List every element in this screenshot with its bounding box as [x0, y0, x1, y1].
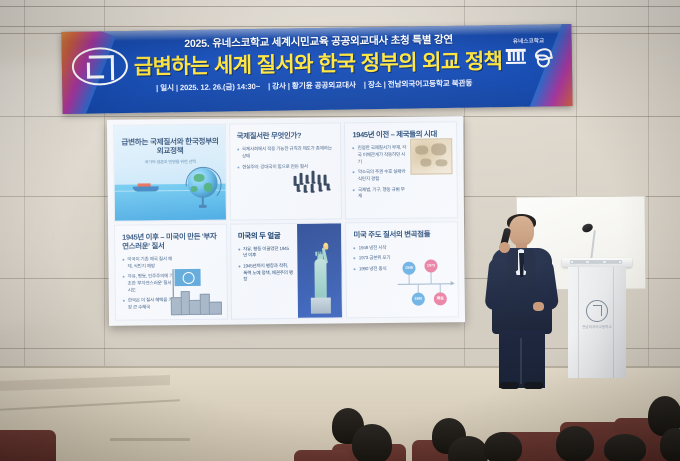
unesco-temple-icon [506, 48, 526, 65]
lectern-podium: 전남외국어고등학교 [566, 258, 628, 378]
audience-seat [0, 430, 56, 461]
slide-panel-4: 1945년 이후 – 미국이 만든 '부자연스러운' 질서 미국이 기존 제국 … [114, 223, 228, 321]
speaker-head [509, 216, 534, 246]
speaker-hand-right [533, 302, 544, 311]
slide-panel-1-subtitle: 국가의 생존과 번영을 위한 선택 [121, 159, 219, 166]
timeline-node: 現在 [434, 292, 447, 305]
bullet: 1973 금본위 포기 [354, 255, 401, 262]
speaker-leg-split [520, 338, 522, 384]
banner-main-title: 급변하는 세계 질서와 한국 정부의 외교 정책 [134, 45, 492, 81]
bullet: 진정한 국제질서가 부재, 각국 이해관계가 작동하던 시기 [353, 145, 408, 166]
lecture-hall-photo: 2025. 유네스코학교 세계시민교육 공공외교대사 초청 특별 강연 급변하는… [0, 0, 680, 461]
audience-seat [294, 450, 350, 461]
bullet: 미국이 기존 제국 질서 해체, 식민지 해방 [122, 256, 173, 270]
audience-head [660, 428, 680, 461]
bullet: 1945년까지 팽창과 착취, 폭력 노예 정책, 패권주의 팽창 [238, 263, 293, 284]
bullet: 자유, 평등 이끌었던 1945년 이후 [238, 246, 293, 260]
audience-head [604, 434, 646, 461]
ceiling-seam [0, 6, 680, 7]
slide-panel-1: 급변하는 국제질서와 한국정부의 외교정책 국가의 생존과 번영을 위한 선택 [113, 124, 227, 222]
ship-icon [132, 183, 158, 191]
timeline-node: 1948 [402, 262, 415, 275]
globe-icon [185, 168, 219, 208]
banner-info-speaker: | 강사 | 황기윤 공공외교대사 [268, 80, 356, 90]
podium-seam [578, 267, 579, 378]
podium-caption: 전남외국어고등학교 [580, 324, 614, 329]
podium-control-strip [570, 260, 622, 264]
slide-panel-1-title: 급변하는 국제질서와 한국정부의 외교정책 [121, 137, 219, 157]
slide-panel-3: 1945년 이전 – 제국들의 시대 진정한 국제질서가 부재, 각국 이해관계… [344, 121, 458, 219]
speaker-hand-left [499, 242, 510, 253]
timeline-icon: 1948 1973 1990 現在 [397, 264, 453, 305]
bullet: 한국은 이 질서 혜택을 가장 큰 수혜국 [123, 297, 174, 311]
banner-info-date: | 일시 | 2025. 12. 26.(금) 14:30~ [156, 82, 260, 93]
slide-panel-6: 미국 주도 질서의 변곡점들 1948 냉전 시작 1973 금본위 포기 19… [345, 221, 459, 319]
slide-panel-5: 미국의 두 얼굴 자유, 평등 이끌었던 1945년 이후 1945년까지 팽창… [230, 222, 344, 320]
slide-panel-2-title: 국제질서란 무엇인가? [237, 130, 335, 140]
timeline-node: 1990 [412, 293, 425, 306]
slide-panel-6-title: 미국 주도 질서의 변곡점들 [353, 229, 451, 239]
school-emblem-icon [72, 47, 129, 86]
audience-head [484, 432, 522, 461]
slide-panel-grid: 급변하는 국제질서와 한국정부의 외교정책 국가의 생존과 번영을 위한 선택 … [113, 121, 459, 321]
audience-head [352, 424, 392, 461]
event-banner: 2025. 유네스코학교 세계시민교육 공공외교대사 초청 특별 강연 급변하는… [61, 24, 572, 114]
un-flag-ruins-icon [168, 267, 224, 316]
bullet: 1948 냉전 시작 [354, 245, 401, 252]
unesco-caption: 유네스코학교 [494, 36, 564, 45]
banner-info-venue: | 장소 | 전남외국어고등학교 북관동 [364, 79, 473, 90]
school-emblem-icon [586, 300, 608, 322]
podium-seam [613, 267, 614, 378]
slide-panel-4-bullets: 미국이 기존 제국 질서 해체, 식민지 해방 자유, 평등, 인주주의에 기초… [122, 256, 173, 311]
old-world-map-icon [410, 138, 452, 174]
speaker-trousers [499, 330, 545, 388]
bullet: 약소국의 주권 수호 실패와 식민지 경험 [353, 169, 408, 183]
timeline-node: 1973 [424, 259, 437, 272]
floor-vent [110, 438, 190, 441]
slide-panel-6-bullets: 1948 냉전 시작 1973 금본위 포기 1990 냉전 종식 [354, 245, 401, 273]
statue-of-liberty-icon [308, 240, 335, 314]
audience-head [556, 426, 594, 461]
speaker-person [487, 216, 559, 388]
slide-panel-4-title: 1945년 이후 – 미국이 만든 '부자연스러운' 질서 [122, 231, 220, 251]
slide-panel-3-bullets: 진정한 국제질서가 부재, 각국 이해관계가 작동하던 시기 약소국의 주권 수… [353, 145, 408, 200]
slide-panel-5-title: 미국의 두 얼굴 [238, 230, 336, 240]
bullet: 국제사회에서 적용 가능한 규칙과 제도가 존재하는 상태 [237, 146, 335, 160]
speaker-shoe-right [524, 382, 543, 389]
slide-panel-2: 국제질서란 무엇인가? 국제사회에서 적용 가능한 규칙과 제도가 존재하는 상… [229, 122, 343, 220]
speaker-shoe-left [500, 382, 519, 389]
slide-panel-5-bullets: 자유, 평등 이끌었던 1945년 이후 1945년까지 팽창과 착취, 폭력 … [238, 246, 293, 284]
bullet: 자유, 평등, 인주주의에 기초한 '부자연스러운' 질서 시도 [123, 273, 174, 293]
unesco-mark-group: 유네스코학교 [494, 36, 564, 65]
projection-screen: 급변하는 국제질서와 한국정부의 외교정책 국가의 생존과 번영을 위한 선택 … [107, 116, 465, 326]
chessboard-icon [286, 162, 338, 203]
podium-body [568, 267, 626, 378]
unesco-asp-icon [532, 47, 552, 64]
bullet: 국제법, 기구, 행동 규범 부재 [353, 186, 408, 200]
bullet: 1990 냉전 종식 [354, 266, 401, 273]
